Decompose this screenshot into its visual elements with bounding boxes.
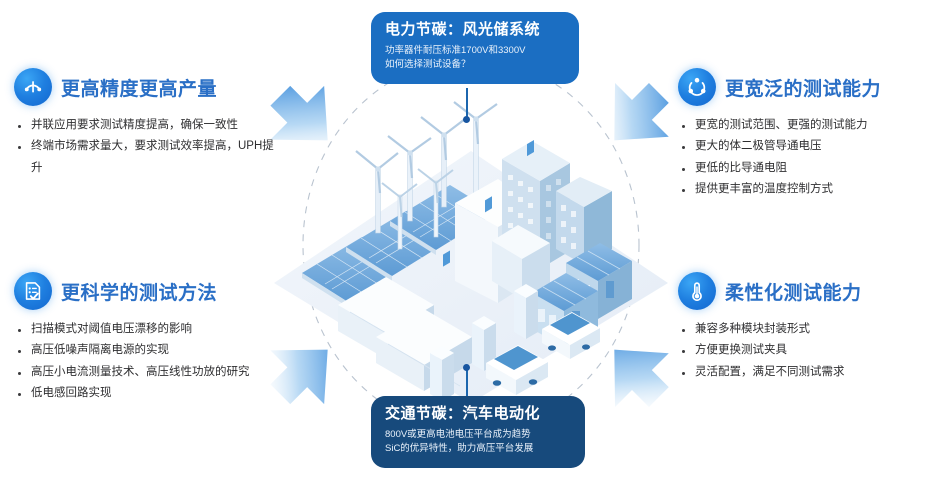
center-illustration <box>250 55 692 435</box>
feature-flexible-testing: 柔性化测试能力 兼容多种模块封装形式 方便更换测试夹具 灵活配置，满足不同测试需… <box>678 272 934 383</box>
feature-header: 更科学的测试方法 <box>14 272 296 310</box>
callout-top-subline-1: 功率器件耐压标准1700V和3300V <box>385 44 565 59</box>
arrow-up-right <box>586 66 686 166</box>
list-item: 扫描模式对阈值电压漂移的影响 <box>14 319 296 340</box>
feature-higher-precision: 更高精度更高产量 并联应用要求测试精度提高，确保一致性 终端市场需求量大，要求测… <box>14 68 276 179</box>
feature-header: 更高精度更高产量 <box>14 68 276 106</box>
list-item: 低电感回路实现 <box>14 383 296 404</box>
list-item: 更宽的测试范围、更强的测试能力 <box>678 115 934 136</box>
list-item: 更大的体二极管导通电压 <box>678 136 934 157</box>
feature-bullet-list: 并联应用要求测试精度提高，确保一致性 终端市场需求量大，要求测试效率提高，UPH… <box>14 115 276 179</box>
feature-scientific-method: 更科学的测试方法 扫描模式对阈值电压漂移的影响 高压低噪声隔离电源的实现 高压小… <box>14 272 296 404</box>
callout-bottom-subline-1: 800V或更高电池电压平台成为趋势 <box>385 428 571 443</box>
callout-bottom-subline-2: SiC的优异特性，助力高压平台发展 <box>385 442 571 457</box>
list-item: 终端市场需求量大，要求测试效率提高，UPH提升 <box>14 136 276 179</box>
list-item: 提供更丰富的温度控制方式 <box>678 179 934 200</box>
callout-top-title: 电力节碳：风光储系统 <box>385 21 565 40</box>
feature-title: 更高精度更高产量 <box>61 74 217 101</box>
feature-title: 更宽泛的测试能力 <box>725 74 881 101</box>
list-item: 高压低噪声隔离电源的实现 <box>14 340 296 361</box>
callout-bottom-title: 交通节碳：汽车电动化 <box>385 405 571 424</box>
callout-transport-carbon[interactable]: 交通节碳：汽车电动化 800V或更高电池电压平台成为趋势 SiC的优异特性，助力… <box>371 396 585 468</box>
list-item: 灵活配置，满足不同测试需求 <box>678 362 934 383</box>
callout-top-subline-2: 如何选择测试设备？ <box>385 58 565 73</box>
feature-wider-capability: 更宽泛的测试能力 更宽的测试范围、更强的测试能力 更大的体二极管导通电压 更低的… <box>678 68 934 200</box>
share-nodes-icon <box>678 68 716 106</box>
callout-power-carbon[interactable]: 电力节碳：风光储系统 功率器件耐压标准1700V和3300V 如何选择测试设备？ <box>371 12 579 84</box>
feature-bullet-list: 兼容多种模块封装形式 方便更换测试夹具 灵活配置，满足不同测试需求 <box>678 319 934 383</box>
list-item: 更低的比导通电阻 <box>678 158 934 179</box>
infographic-canvas: 电力节碳：风光储系统 功率器件耐压标准1700V和3300V 如何选择测试设备？… <box>0 0 942 486</box>
list-item: 兼容多种模块封装形式 <box>678 319 934 340</box>
precision-gauge-icon <box>14 68 52 106</box>
document-check-icon <box>14 272 52 310</box>
feature-bullet-list: 更宽的测试范围、更强的测试能力 更大的体二极管导通电压 更低的比导通电阻 提供更… <box>678 115 934 200</box>
arrow-down-right <box>586 324 686 424</box>
feature-title: 更科学的测试方法 <box>61 278 217 305</box>
list-item: 高压小电流测量技术、高压线性功放的研究 <box>14 362 296 383</box>
feature-bullet-list: 扫描模式对阈值电压漂移的影响 高压低噪声隔离电源的实现 高压小电流测量技术、高压… <box>14 319 296 404</box>
feature-header: 柔性化测试能力 <box>678 272 934 310</box>
feature-header: 更宽泛的测试能力 <box>678 68 934 106</box>
feature-title: 柔性化测试能力 <box>725 278 862 305</box>
thermometer-icon <box>678 272 716 310</box>
list-item: 并联应用要求测试精度提高，确保一致性 <box>14 115 276 136</box>
list-item: 方便更换测试夹具 <box>678 340 934 361</box>
